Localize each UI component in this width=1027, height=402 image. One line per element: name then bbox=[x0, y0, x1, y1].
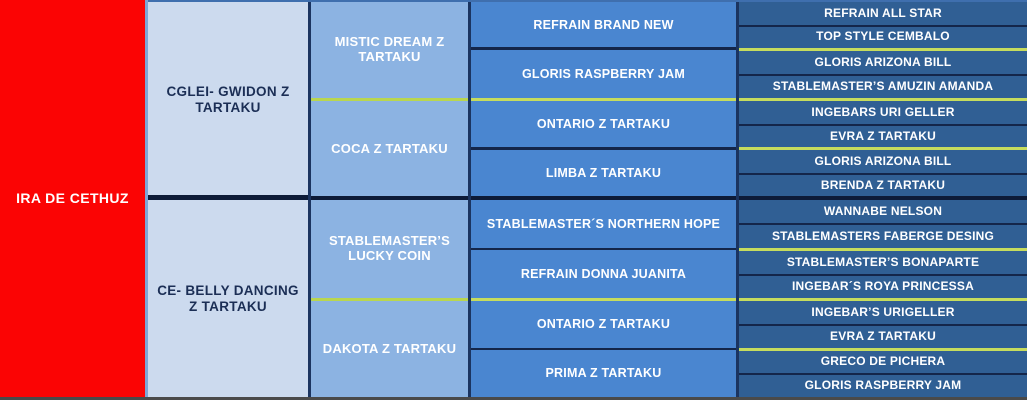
gen4-name-12: INGEBAR´S ROYA PRINCESSA bbox=[792, 280, 974, 294]
divider-g3-3 bbox=[471, 147, 736, 150]
gen4-cell-8: BRENDA Z TARTAKU bbox=[739, 175, 1027, 197]
gen1-cell-sire: CGLEI- GWIDON Z TARTAKU bbox=[148, 2, 308, 197]
divider-g4-12 bbox=[739, 298, 1027, 301]
pedigree-chart: IRA DE CETHUZ CGLEI- GWIDON Z TARTAKU CE… bbox=[0, 0, 1027, 402]
gen4-name-4: STABLEMASTER’S AMUZIN AMANDA bbox=[773, 80, 993, 94]
gen3-name-8: PRIMA Z TARTAKU bbox=[546, 366, 662, 380]
gen4-name-10: STABLEMASTERS FABERGE DESING bbox=[772, 230, 994, 244]
gen2-cell-3: STABLEMASTER’S LUCKY COIN bbox=[311, 200, 468, 298]
gen2-name-1: MISTIC DREAM Z TARTAKU bbox=[315, 35, 464, 65]
gen3-name-3: ONTARIO Z TARTAKU bbox=[537, 117, 670, 131]
divider-g4-7 bbox=[739, 173, 1027, 175]
divider-g2-3 bbox=[311, 298, 468, 301]
frame-bottom bbox=[0, 397, 1027, 400]
gen4-name-11: STABLEMASTER’S BONAPARTE bbox=[787, 256, 979, 270]
divider-g4-10 bbox=[739, 248, 1027, 251]
column-separator-1 bbox=[145, 0, 148, 397]
gen4-name-2: TOP STYLE CEMBALO bbox=[816, 30, 950, 44]
divider-g4-5 bbox=[739, 124, 1027, 126]
gen4-cell-10: STABLEMASTERS FABERGE DESING bbox=[739, 225, 1027, 248]
gen1-cell-dam: CE- BELLY DANCING Z TARTAKU bbox=[148, 200, 308, 397]
column-separator-2 bbox=[308, 0, 311, 397]
gen4-cell-15: GRECO DE PICHERA bbox=[739, 350, 1027, 373]
divider-g3-6 bbox=[471, 298, 736, 301]
gen4-name-5: INGEBARS URI GELLER bbox=[811, 106, 954, 120]
column-separator-4 bbox=[736, 0, 739, 397]
gen3-cell-5: STABLEMASTER´S NORTHERN HOPE bbox=[471, 200, 736, 248]
gen4-name-9: WANNABE NELSON bbox=[824, 205, 942, 219]
gen4-name-15: GRECO DE PICHERA bbox=[821, 355, 946, 369]
gen3-cell-4: LIMBA Z TARTAKU bbox=[471, 150, 736, 197]
divider-g3-5 bbox=[471, 248, 736, 250]
gen4-cell-13: INGEBAR’S URIGELLER bbox=[739, 301, 1027, 324]
gen3-cell-2: GLORIS RASPBERRY JAM bbox=[471, 50, 736, 98]
gen1-sire-name: CGLEI- GWIDON Z TARTAKU bbox=[152, 84, 304, 115]
gen2-cell-1: MISTIC DREAM Z TARTAKU bbox=[311, 2, 468, 98]
gen2-name-3: STABLEMASTER’S LUCKY COIN bbox=[315, 234, 464, 264]
gen3-name-1: REFRAIN BRAND NEW bbox=[533, 18, 673, 32]
gen4-cell-14: EVRA Z TARTAKU bbox=[739, 326, 1027, 348]
gen4-cell-7: GLORIS ARIZONA BILL bbox=[739, 150, 1027, 173]
divider-g4-2 bbox=[739, 48, 1027, 51]
divider-g4-8 bbox=[739, 196, 1027, 200]
gen4-cell-5: INGEBARS URI GELLER bbox=[739, 101, 1027, 124]
gen4-cell-9: WANNABE NELSON bbox=[739, 200, 1027, 223]
gen3-cell-6: REFRAIN DONNA JUANITA bbox=[471, 250, 736, 298]
gen4-cell-1: REFRAIN ALL STAR bbox=[739, 2, 1027, 25]
gen4-name-8: BRENDA Z TARTAKU bbox=[821, 179, 945, 193]
gen3-name-4: LIMBA Z TARTAKU bbox=[546, 166, 661, 180]
frame-top bbox=[148, 0, 1027, 2]
divider-g4-14 bbox=[739, 348, 1027, 351]
gen2-name-4: DAKOTA Z TARTAKU bbox=[323, 342, 456, 357]
gen4-cell-12: INGEBAR´S ROYA PRINCESSA bbox=[739, 275, 1027, 298]
gen3-cell-1: REFRAIN BRAND NEW bbox=[471, 2, 736, 48]
gen4-name-7: GLORIS ARIZONA BILL bbox=[815, 155, 952, 169]
divider-g4-4 bbox=[739, 98, 1027, 101]
gen4-name-16: GLORIS RASPBERRY JAM bbox=[805, 379, 962, 393]
divider-g2-2 bbox=[311, 196, 468, 200]
divider-g4-13 bbox=[739, 324, 1027, 326]
gen3-name-2: GLORIS RASPBERRY JAM bbox=[522, 67, 685, 81]
gen4-name-1: REFRAIN ALL STAR bbox=[824, 7, 942, 21]
gen1-dam-name: CE- BELLY DANCING Z TARTAKU bbox=[152, 283, 304, 314]
gen2-cell-2: COCA Z TARTAKU bbox=[311, 101, 468, 197]
divider-g4-15 bbox=[739, 373, 1027, 375]
gen3-name-6: REFRAIN DONNA JUANITA bbox=[521, 267, 686, 281]
gen4-cell-16: GLORIS RASPBERRY JAM bbox=[739, 375, 1027, 397]
divider-g4-1 bbox=[739, 25, 1027, 27]
gen4-cell-11: STABLEMASTER’S BONAPARTE bbox=[739, 251, 1027, 274]
gen4-name-14: EVRA Z TARTAKU bbox=[830, 330, 936, 344]
subject-name: IRA DE CETHUZ bbox=[16, 190, 129, 206]
gen3-cell-8: PRIMA Z TARTAKU bbox=[471, 350, 736, 397]
subject-cell: IRA DE CETHUZ bbox=[0, 0, 145, 397]
gen4-cell-2: TOP STYLE CEMBALO bbox=[739, 26, 1027, 48]
divider-g4-3 bbox=[739, 74, 1027, 76]
divider-g4-6 bbox=[739, 147, 1027, 150]
divider-g3-1 bbox=[471, 47, 736, 50]
divider-g3-4 bbox=[471, 196, 736, 200]
column-separator-3 bbox=[468, 0, 471, 397]
gen3-cell-7: ONTARIO Z TARTAKU bbox=[471, 301, 736, 348]
gen3-cell-3: ONTARIO Z TARTAKU bbox=[471, 101, 736, 148]
divider-g3-2 bbox=[471, 98, 736, 101]
gen4-cell-3: GLORIS ARIZONA BILL bbox=[739, 51, 1027, 74]
divider-g1-center bbox=[148, 195, 308, 200]
gen2-cell-4: DAKOTA Z TARTAKU bbox=[311, 301, 468, 397]
divider-g4-9 bbox=[739, 223, 1027, 225]
divider-g4-11 bbox=[739, 274, 1027, 276]
gen3-name-7: ONTARIO Z TARTAKU bbox=[537, 317, 670, 331]
divider-g2-1 bbox=[311, 98, 468, 101]
gen3-name-5: STABLEMASTER´S NORTHERN HOPE bbox=[487, 217, 720, 231]
gen4-name-6: EVRA Z TARTAKU bbox=[830, 130, 936, 144]
gen4-cell-4: STABLEMASTER’S AMUZIN AMANDA bbox=[739, 75, 1027, 98]
gen2-name-2: COCA Z TARTAKU bbox=[331, 142, 448, 157]
divider-g3-7 bbox=[471, 348, 736, 350]
gen4-cell-6: EVRA Z TARTAKU bbox=[739, 126, 1027, 148]
gen4-name-3: GLORIS ARIZONA BILL bbox=[815, 56, 952, 70]
gen4-name-13: INGEBAR’S URIGELLER bbox=[811, 306, 954, 320]
